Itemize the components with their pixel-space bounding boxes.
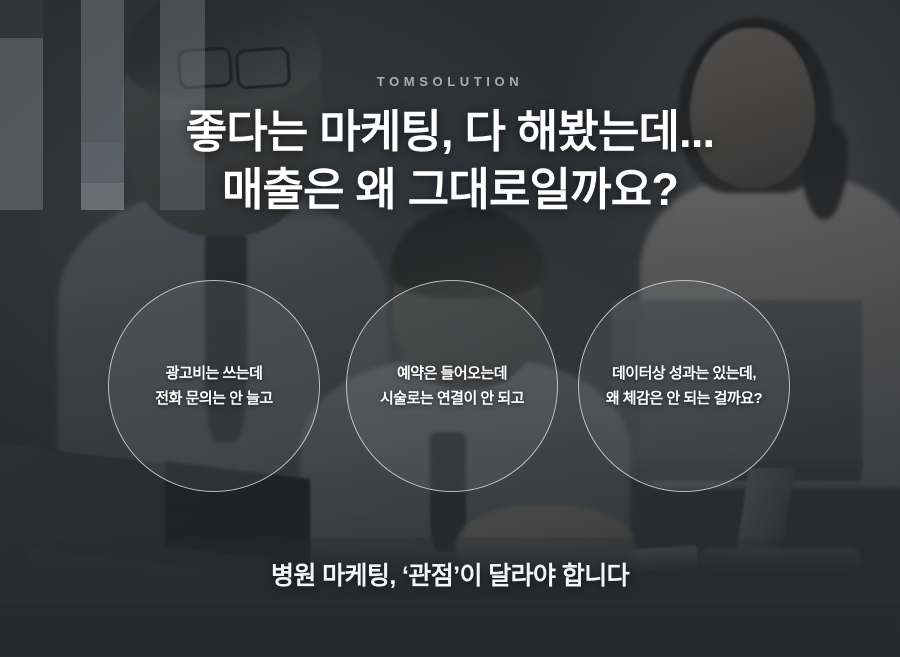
bubble-2-line-1: 예약은 들어오는데	[397, 365, 507, 382]
pain-point-bubble-ad-spend[interactable]: 광고비는 쓰는데 전화 문의는 안 늘고	[108, 280, 320, 492]
hero-banner: TOMSOLUTION 좋다는 마케팅, 다 해봤는데... 매출은 왜 그대로…	[0, 0, 900, 657]
page-title: 좋다는 마케팅, 다 해봤는데... 매출은 왜 그대로일까요?	[0, 103, 900, 219]
closing-tagline: 병원 마케팅, ‘관점’이 달라야 합니다	[0, 556, 900, 592]
headline-line-1: 좋다는 마케팅, 다 해봤는데...	[0, 103, 900, 161]
pain-point-bubble-data-result[interactable]: 데이터상 성과는 있는데, 왜 체감은 안 되는 걸까요?	[578, 280, 790, 492]
pain-point-bubble-group: 광고비는 쓰는데 전화 문의는 안 늘고 예약은 들어오는데 시술로는 연결이 …	[0, 280, 900, 492]
bubble-3-line-1: 데이터상 성과는 있는데,	[612, 365, 756, 382]
bubble-3-line-2: 왜 체감은 안 되는 걸까요?	[606, 390, 762, 407]
bubble-1-line-1: 광고비는 쓰는데	[166, 365, 263, 382]
bubble-1-line-2: 전화 문의는 안 늘고	[155, 390, 272, 407]
pain-point-bubble-reservation[interactable]: 예약은 들어오는데 시술로는 연결이 안 되고	[346, 280, 558, 492]
bubble-2-line-2: 시술로는 연결이 안 되고	[380, 390, 524, 407]
brand-eyebrow-label: TOMSOLUTION	[0, 74, 900, 89]
headline-line-2: 매출은 왜 그대로일까요?	[0, 161, 900, 219]
banner-content: TOMSOLUTION 좋다는 마케팅, 다 해봤는데... 매출은 왜 그대로…	[0, 0, 900, 657]
